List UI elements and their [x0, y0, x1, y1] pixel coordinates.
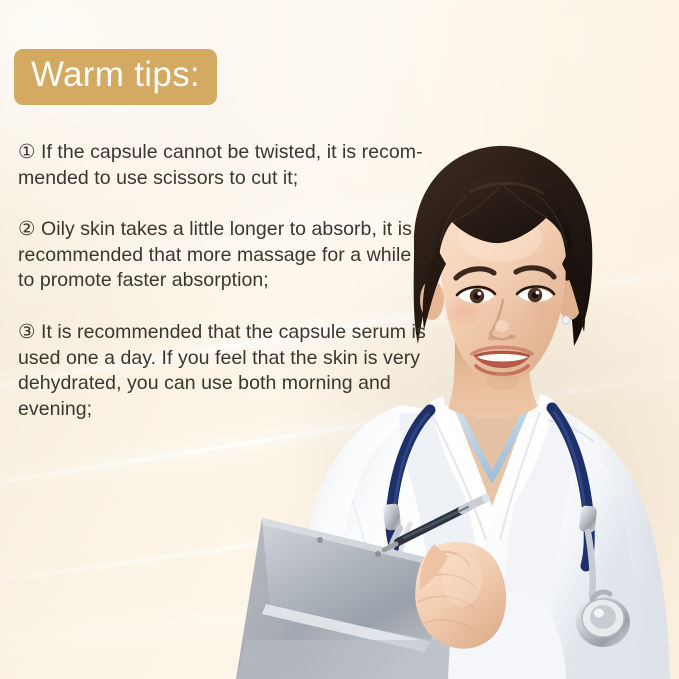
warm-tips-badge: Warm tips:	[14, 49, 217, 105]
tip-item-1: ① If the capsule cannot be twisted, it i…	[18, 140, 448, 191]
tip-item-2: ② Oily skin takes a little longer to abs…	[18, 217, 448, 294]
tip-item-3: ③ It is recommended that the capsule ser…	[18, 320, 448, 422]
tips-list: ① If the capsule cannot be twisted, it i…	[18, 140, 448, 422]
warm-tips-poster: Warm tips: ① If the capsule cannot be tw…	[0, 0, 679, 679]
